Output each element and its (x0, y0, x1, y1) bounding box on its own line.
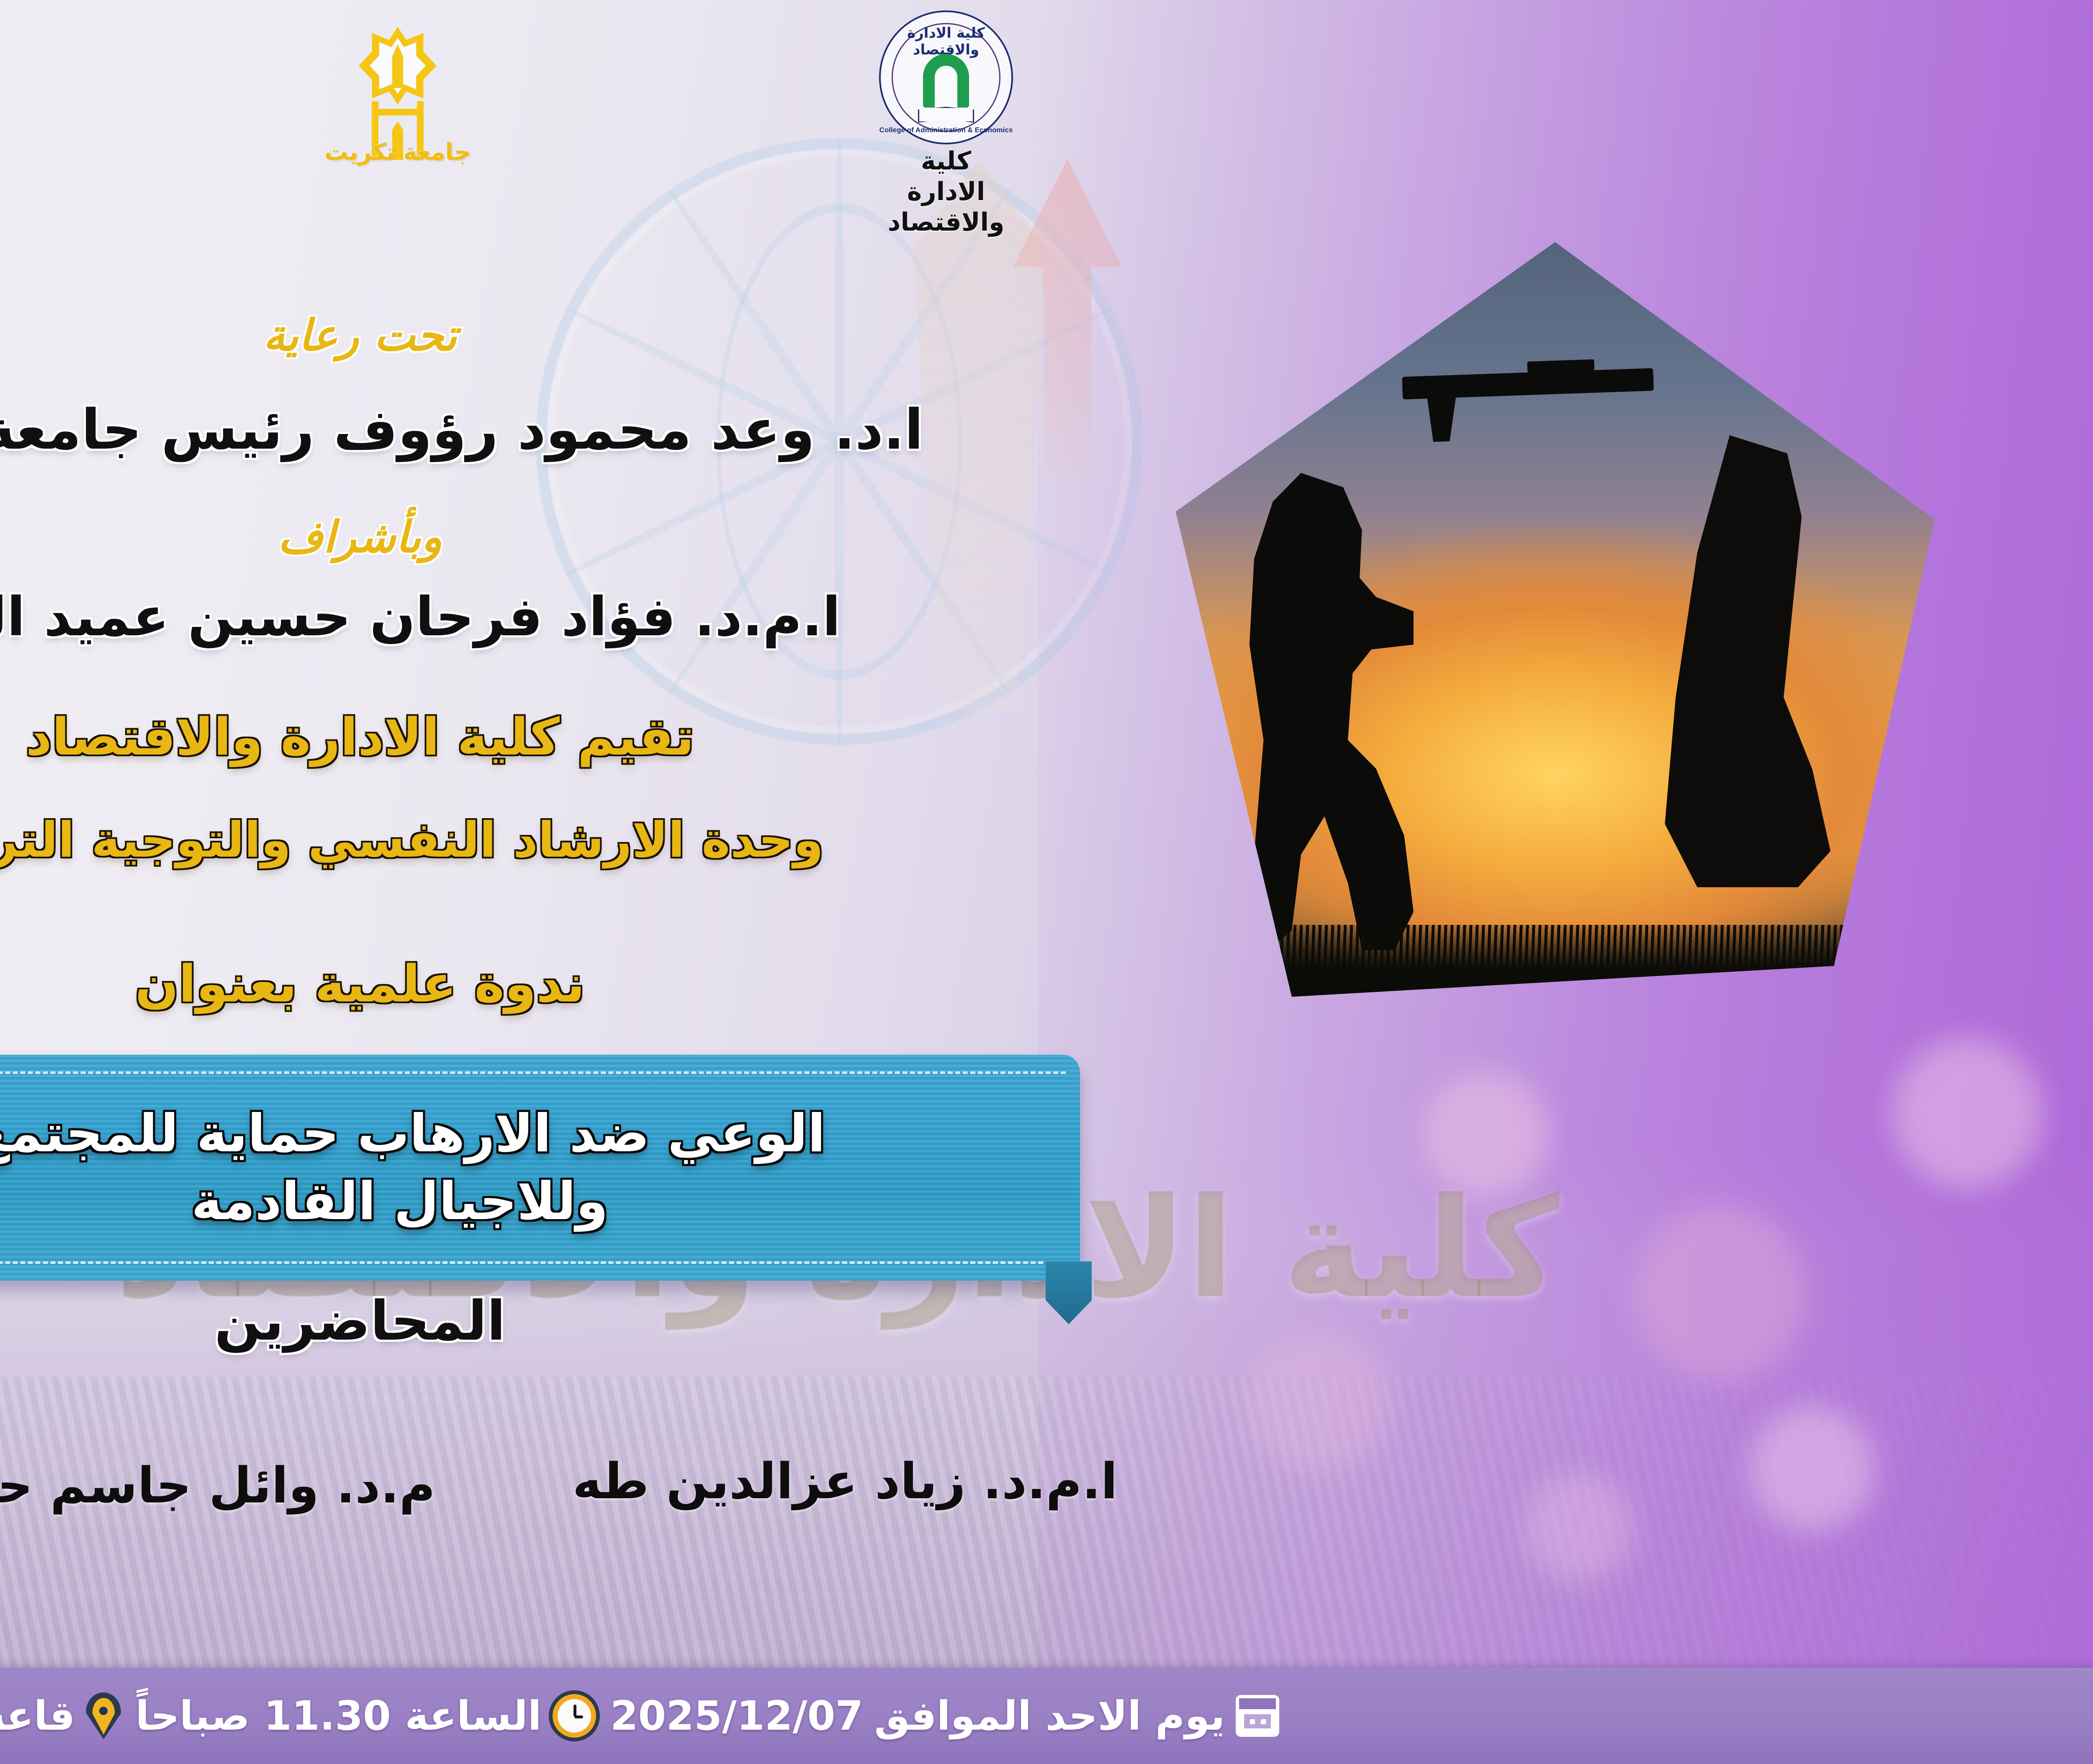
clock-icon (553, 1694, 596, 1738)
footer-date-group: يوم الاحد الموافق 2025/12/07 (610, 1692, 1280, 1739)
pen-nib-icon (392, 44, 403, 88)
college-seal-english: College of Administration & Economics (879, 126, 1013, 134)
bokeh-blossom (1524, 1473, 1633, 1582)
university-logo-block: جامعة تكريت (322, 13, 473, 163)
university-president-name: ا.د. وعد محمود رؤوف رئيس جامعة تكريت (0, 398, 1139, 462)
eight-point-star-icon (359, 27, 437, 105)
organiser-line: تقيم كلية الادارة والاقتصاد (0, 707, 1139, 767)
lecturers-heading: المحاضرين (0, 1289, 1139, 1353)
event-day: يوم الاحد الموافق (874, 1692, 1225, 1739)
footer-venue-group: قاعة قسم ادارة الاعمال (0, 1692, 121, 1739)
college-seal-arch-icon (923, 54, 969, 108)
lecturer-name-1: ا.م.د. زياد عزالدين طه (573, 1452, 1118, 1510)
bokeh-blossom (1247, 1331, 1390, 1473)
bokeh-blossom (1633, 1205, 1808, 1381)
calendar-icon (1236, 1695, 1279, 1737)
college-caption-line1: كلية (862, 146, 1030, 177)
organising-unit-line: وحدة الارشاد النفسي والتوجية التربوي (0, 812, 1139, 868)
event-date: 2025/12/07 (610, 1692, 864, 1739)
college-seal-arabic: كلية الادارة والاقتصاد (879, 25, 1013, 58)
tikrit-university-seal-icon: جامعة تكريت (335, 13, 460, 163)
banner-text-group: الوعي ضد الارهاب حماية للمجتمع وللاجيال … (0, 1055, 1080, 1281)
university-name: جامعة تكريت (314, 139, 481, 166)
college-dean-name: ا.م.د. فؤاد فرحان حسين عميد الكلية (0, 586, 1139, 648)
lecturer-name-2: م.د. وائل جاسم حميد (0, 1456, 435, 1514)
poster-canvas: كلية الادارة والاقتصاد وزارة التعليم الع… (0, 0, 2093, 1764)
seminar-label: ندوة علمية بعنوان (0, 954, 1139, 1014)
patronage-label: تحت رعاية (0, 310, 1139, 361)
bokeh-blossom (1750, 1406, 1875, 1532)
college-seal-icon: كلية الادارة والاقتصاد College of Admini… (879, 10, 1013, 144)
supervision-label: وبأشراف (0, 511, 1139, 562)
bokeh-blossom (1892, 1038, 2043, 1189)
college-caption-line2: الادارة والاقتصاد (862, 177, 1030, 238)
seminar-title-banner: الوعي ضد الارهاب حماية للمجتمع وللاجيال … (0, 1055, 1080, 1281)
event-time: الساعة 11.30 صباحاً (135, 1692, 541, 1739)
seminar-title-line2: وللاجيال القادمة (191, 1171, 608, 1232)
event-venue: قاعة قسم ادارة الاعمال (0, 1692, 75, 1739)
college-logo-block: كلية الادارة والاقتصاد College of Admini… (862, 10, 1030, 238)
footer-info-bar: يوم الاحد الموافق 2025/12/07 الساعة 11.3… (0, 1668, 2093, 1764)
footer-time-group: الساعة 11.30 صباحاً (135, 1692, 596, 1739)
seminar-title-line1: الوعي ضد الارهاب حماية للمجتمع (0, 1104, 825, 1164)
location-pin-icon (86, 1692, 121, 1739)
bokeh-blossom (1423, 1071, 1549, 1197)
college-caption: كلية الادارة والاقتصاد (862, 146, 1030, 238)
